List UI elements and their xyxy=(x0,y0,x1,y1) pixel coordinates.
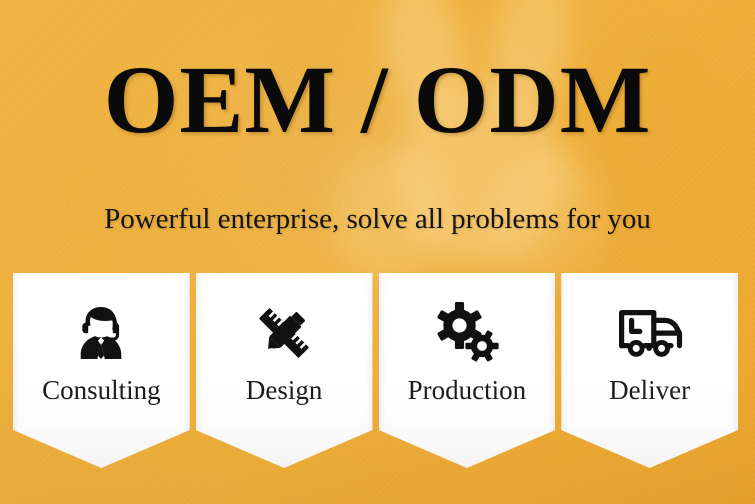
banner-content: OEM / ODM Powerful enterprise, solve all… xyxy=(0,0,755,504)
step-card-label: Production xyxy=(408,377,527,404)
delivery-truck-icon xyxy=(617,297,683,369)
step-card-design[interactable]: Design xyxy=(196,273,373,468)
banner-subheadline: Powerful enterprise, solve all problems … xyxy=(0,204,755,236)
oem-odm-banner: OEM / ODM Powerful enterprise, solve all… xyxy=(0,0,755,504)
step-card-label: Design xyxy=(246,377,323,404)
pencil-ruler-icon xyxy=(252,297,316,369)
step-card-production[interactable]: Production xyxy=(379,273,556,468)
support-agent-icon xyxy=(69,297,133,369)
step-card-label: Consulting xyxy=(42,377,161,404)
step-card-label: Deliver xyxy=(609,377,690,404)
step-card-consulting[interactable]: Consulting xyxy=(13,273,190,468)
process-steps-row: Consulting xyxy=(13,273,738,468)
banner-headline: OEM / ODM xyxy=(0,52,755,148)
step-card-deliver[interactable]: Deliver xyxy=(561,273,738,468)
gears-icon xyxy=(435,297,499,369)
